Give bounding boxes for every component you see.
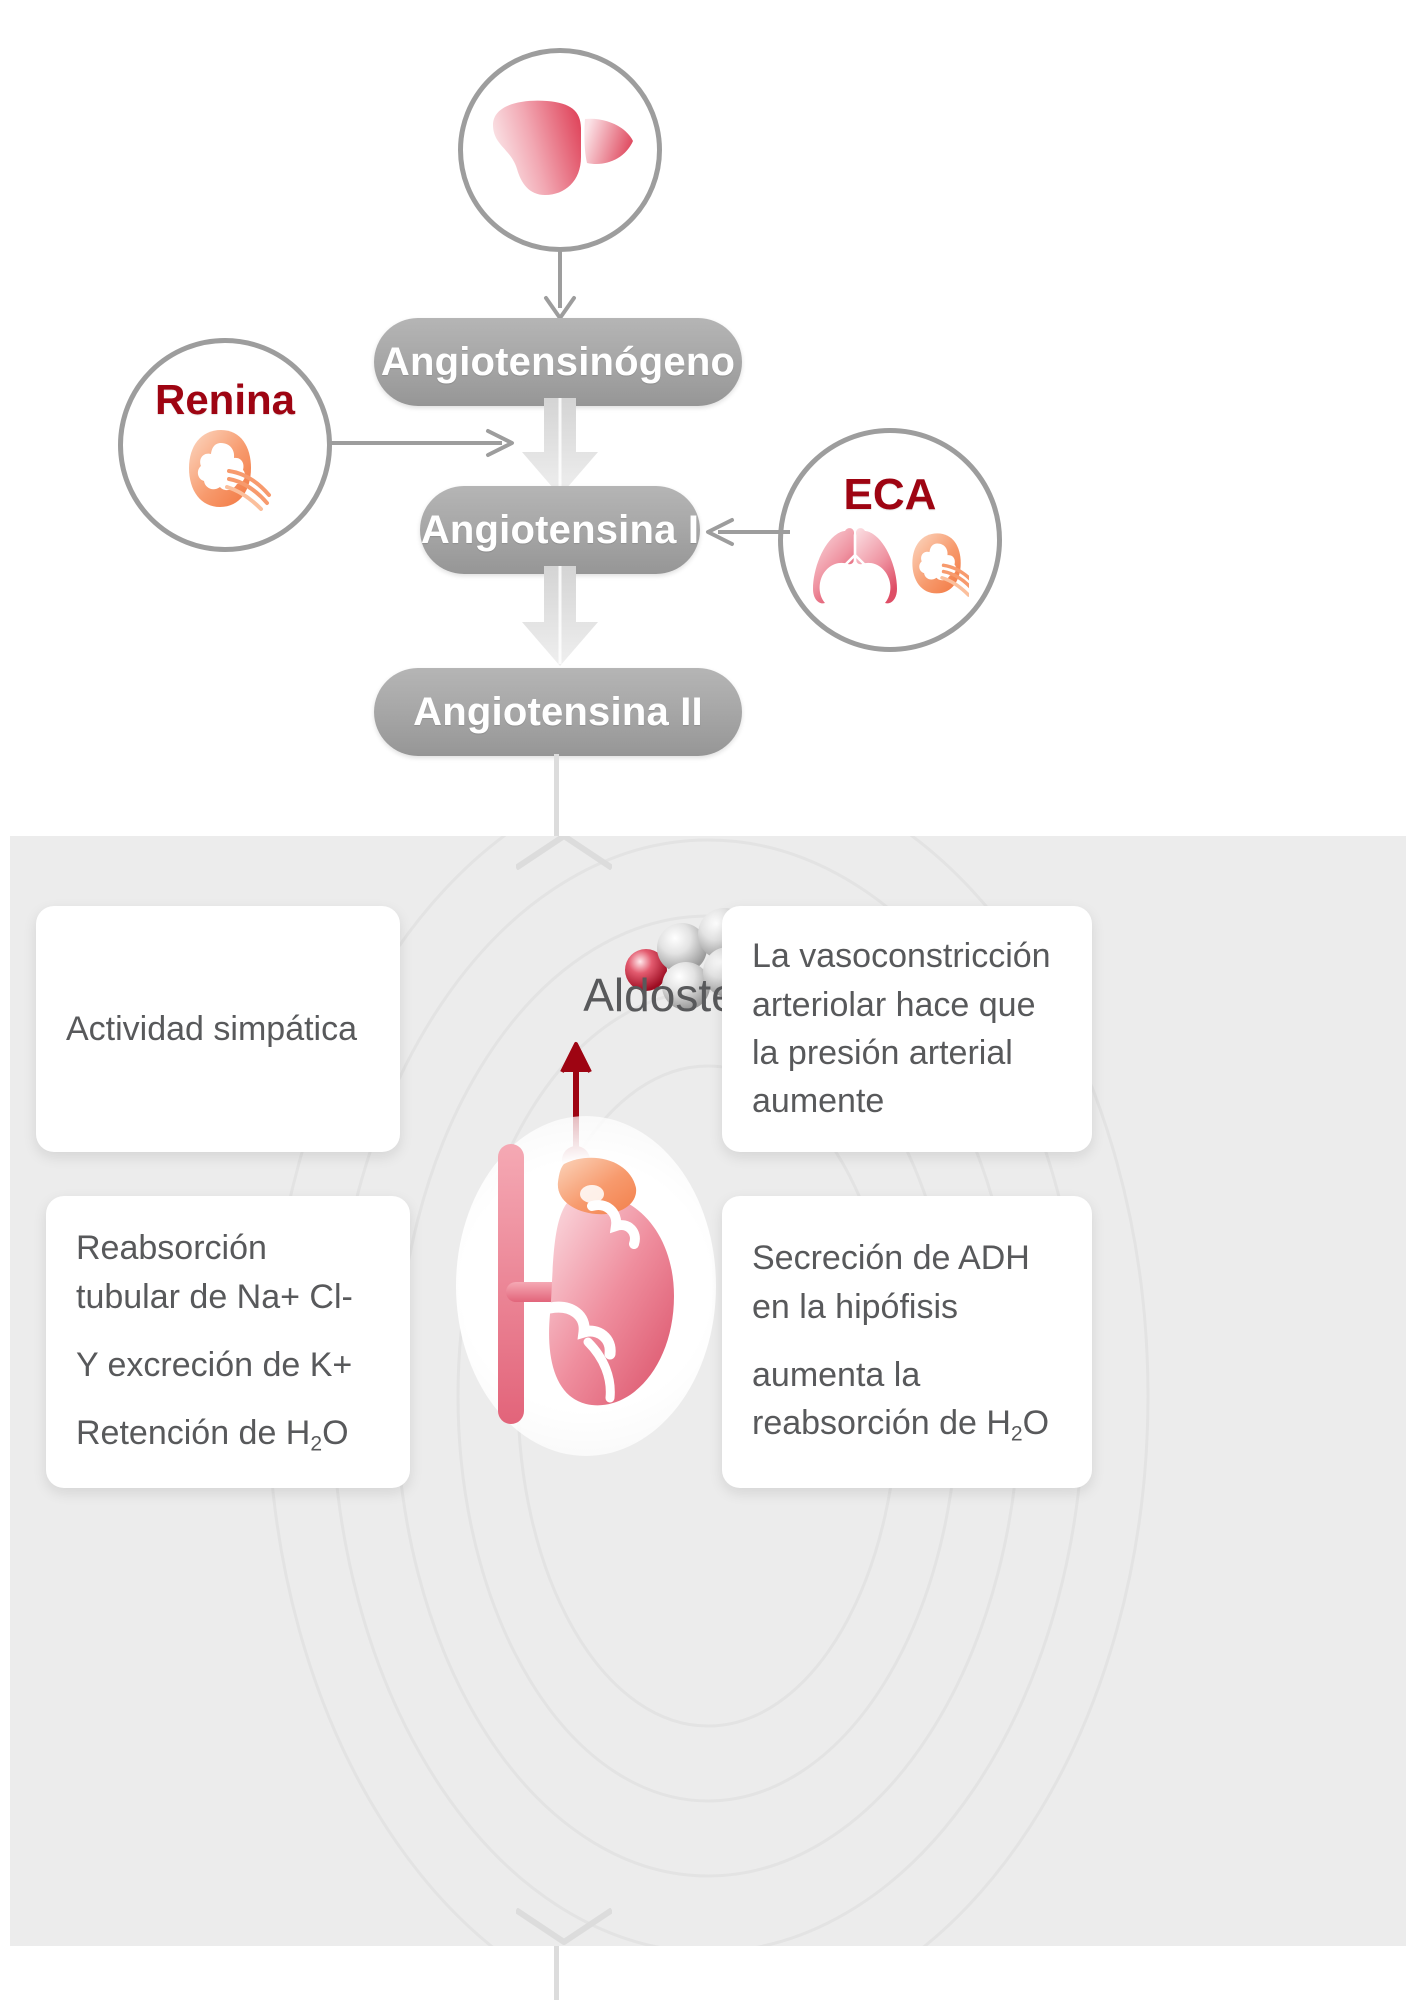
panel-inlet-chevron: [516, 836, 612, 870]
lungs-kidney-icon: [811, 525, 969, 607]
edge-renin-to-angiotensina-i: [330, 425, 520, 461]
edge-panel-outflow: [554, 1946, 559, 2000]
node-angiotensina-ii[interactable]: Angiotensina II: [374, 668, 742, 756]
adrenal-kidney-icon: [488, 1136, 698, 1436]
kidney-icon: [177, 427, 273, 511]
liver-circle[interactable]: [458, 48, 662, 252]
card-adh-line-0: Secreción de ADH en la hipófisis: [752, 1234, 1062, 1331]
node-angiotensina-ii-label: Angiotensina II: [413, 690, 703, 735]
edge-angiotensina-ii-to-panel: [554, 754, 559, 836]
edge-angiotensina-i-to-angiotensina-ii: [518, 566, 602, 668]
card-tubular-line-2: Retención de H2O: [76, 1409, 380, 1460]
card-sympathetic[interactable]: Actividad simpática: [36, 906, 400, 1152]
node-angiotensina-i-label: Angiotensina I: [421, 508, 699, 553]
card-sympathetic-line-0: Actividad simpática: [66, 1005, 357, 1053]
effects-panel: Aldosterona: [10, 836, 1406, 1946]
renin-circle[interactable]: Renina: [118, 338, 332, 552]
ace-label: ECA: [844, 473, 937, 517]
card-adh-line-1: aumenta la reabsorción de H2O: [752, 1351, 1062, 1450]
edge-angiotensinogeno-to-angiotensina-i: [518, 398, 602, 498]
ace-circle[interactable]: ECA: [778, 428, 1002, 652]
diagram-canvas: Angiotensinógeno Renina: [0, 0, 1416, 2000]
card-adh[interactable]: Secreción de ADH en la hipófisis aumenta…: [722, 1196, 1092, 1488]
card-vasoconstriction-line-0: La vasoconstricción arteriolar hace que …: [752, 932, 1062, 1125]
card-tubular-line-1: Y excreción de K+: [76, 1341, 380, 1389]
edge-liver-to-angiotensinogeno: [540, 250, 580, 322]
card-tubular-line-0: Reabsorción tubular de Na+ Cl-: [76, 1224, 380, 1321]
card-vasoconstriction[interactable]: La vasoconstricción arteriolar hace que …: [722, 906, 1092, 1152]
edge-ace-to-angiotensina-i: [698, 514, 794, 550]
liver-icon: [485, 95, 635, 205]
card-tubular-reabsorption[interactable]: Reabsorción tubular de Na+ Cl- Y excreci…: [46, 1196, 410, 1488]
panel-outlet-chevron: [516, 1908, 612, 1946]
node-angiotensinogeno-label: Angiotensinógeno: [381, 340, 735, 385]
renin-label: Renina: [155, 379, 295, 421]
node-angiotensinogeno[interactable]: Angiotensinógeno: [374, 318, 742, 406]
node-angiotensina-i[interactable]: Angiotensina I: [420, 486, 700, 574]
